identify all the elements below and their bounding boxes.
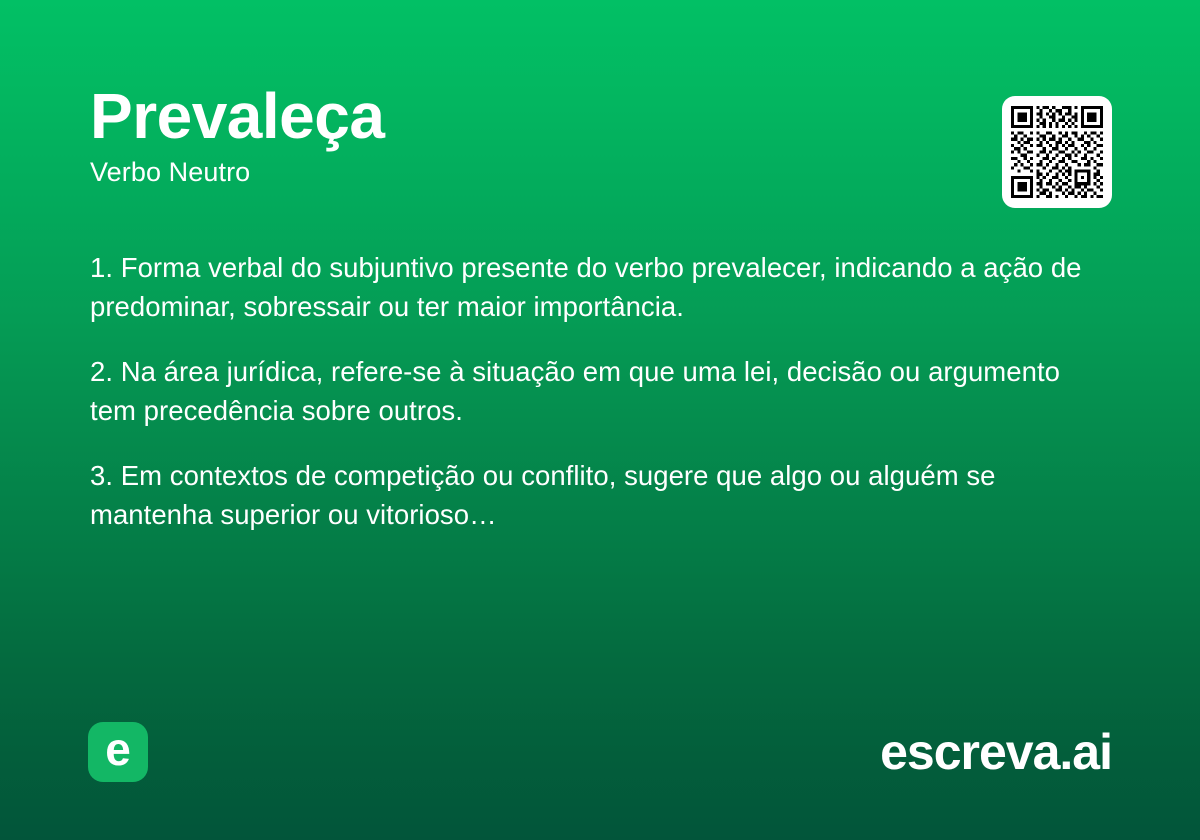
- word-class-subtitle: Verbo Neutro: [90, 158, 1110, 188]
- word-definition-card: Prevaleça Verbo Neutro: [0, 0, 1200, 840]
- card-header: Prevaleça Verbo Neutro: [90, 84, 1110, 188]
- brand-wordmark: escreva.ai: [880, 727, 1112, 777]
- logo-letter: e: [105, 726, 131, 772]
- definition-item: 2. Na área jurídica, refere-se à situaçã…: [90, 352, 1105, 430]
- qr-code[interactable]: [1002, 96, 1112, 208]
- definition-item: 1. Forma verbal do subjuntivo presente d…: [90, 248, 1105, 326]
- definition-item: 3. Em contextos de competição ou conflit…: [90, 456, 1105, 534]
- definition-list: 1. Forma verbal do subjuntivo presente d…: [90, 248, 1105, 534]
- escreva-logo-icon: e: [88, 722, 148, 782]
- page-title: Prevaleça: [90, 84, 1110, 148]
- card-footer: e escreva.ai: [88, 721, 1112, 783]
